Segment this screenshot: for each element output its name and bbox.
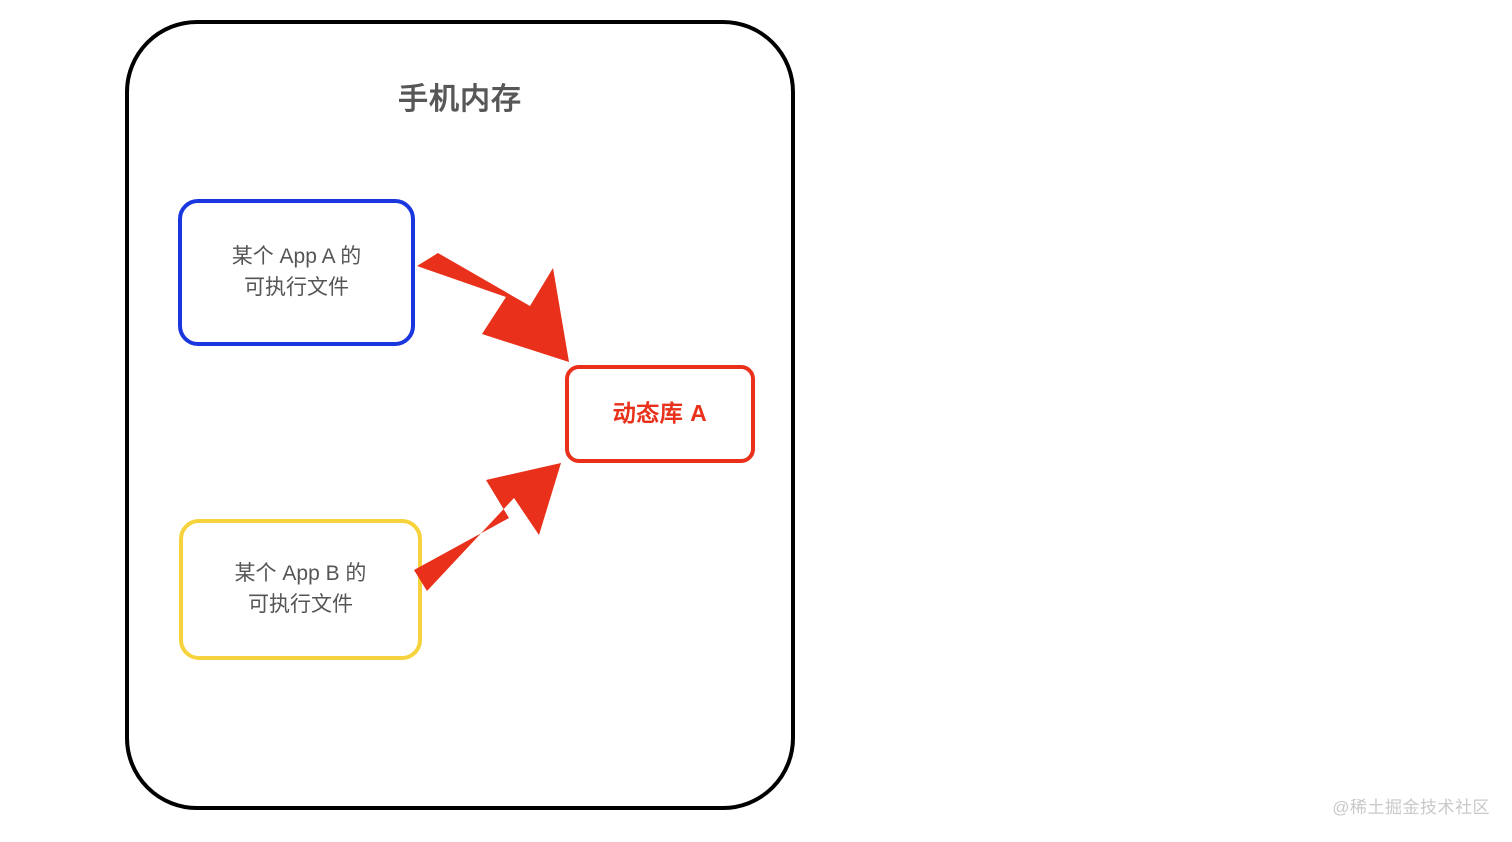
node-app-a-line2: 可执行文件 (244, 276, 349, 299)
watermark: @稀土掘金技术社区 (1332, 793, 1490, 818)
node-app-b-line2: 可执行文件 (248, 593, 353, 616)
node-dynamic-library-a-label: 动态库 A (605, 397, 716, 430)
phone-memory-title: 手机内存 (125, 82, 795, 118)
diagram-canvas: 手机内存 某个 App A 的 可执行文件 某个 App B 的 可执行文件 动… (0, 0, 1512, 842)
node-app-b: 某个 App B 的 可执行文件 (179, 519, 422, 660)
node-app-b-line1: 某个 App B 的 (235, 562, 367, 585)
node-dynamic-library-a: 动态库 A (565, 365, 755, 463)
node-app-a-label: 某个 App A 的 可执行文件 (224, 242, 370, 303)
node-app-a-line1: 某个 App A 的 (232, 245, 362, 268)
node-app-b-label: 某个 App B 的 可执行文件 (227, 559, 375, 620)
node-app-a: 某个 App A 的 可执行文件 (178, 199, 415, 346)
